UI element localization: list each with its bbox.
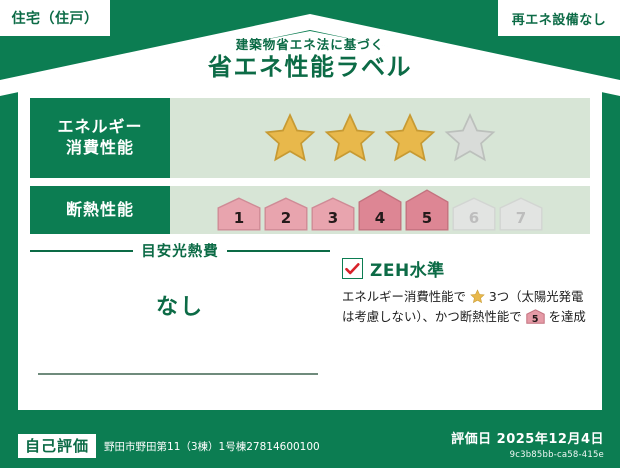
- insulation-level-5: 5: [405, 189, 449, 231]
- row-energy-label-line1: エネルギー: [57, 117, 142, 138]
- star-icon-empty: [444, 112, 496, 164]
- insulation-level-number: 7: [499, 209, 543, 227]
- label-heading: 建築物省エネ法に基づく 省エネ性能ラベル: [0, 37, 620, 82]
- row-insulation-value: 1234567: [170, 186, 590, 234]
- insulation-level-3: 3: [311, 197, 355, 231]
- insulation-level-4: 4: [358, 189, 402, 231]
- footer-left: 自己評価 野田市野田第11（3棟）1号棟27814600100: [18, 434, 320, 458]
- heading-subtitle: 建築物省エネ法に基づく: [0, 37, 620, 52]
- zeh-desc-part2: 3つ（太陽光発電: [489, 289, 584, 304]
- utility-cost-value: なし: [30, 289, 330, 321]
- insulation-level-scale: 1234567: [217, 187, 543, 233]
- insulation-badge-number: 5: [526, 315, 545, 325]
- label-body-panel: エネルギー 消費性能 断熱性能 1234567 目安光熱費: [18, 88, 602, 410]
- tag-renewable-energy: 再エネ設備なし: [498, 0, 620, 36]
- zeh-heading: ZEH水準: [342, 256, 590, 281]
- footer-right: 評価日 2025年12月4日 9c3b85bb-ca58-415e: [451, 428, 604, 460]
- utility-cost-title-row: 目安光熱費: [30, 240, 330, 261]
- utility-cost-underline: [38, 373, 318, 375]
- tag-building-type: 住宅（住戸）: [0, 0, 110, 36]
- insulation-level-number: 4: [358, 209, 402, 227]
- insulation-level-2: 2: [264, 197, 308, 231]
- heading-title: 省エネ性能ラベル: [0, 54, 620, 82]
- insulation-level-number: 1: [217, 209, 261, 227]
- insulation-level-1: 1: [217, 197, 261, 231]
- row-energy-value: [170, 98, 590, 178]
- insulation-level-number: 3: [311, 209, 355, 227]
- row-insulation: 断熱性能 1234567: [30, 186, 590, 234]
- insulation-level-number: 2: [264, 209, 308, 227]
- zeh-title: ZEH水準: [370, 256, 445, 281]
- row-insulation-label: 断熱性能: [30, 186, 170, 234]
- row-insulation-label-line1: 断熱性能: [66, 200, 134, 221]
- star-icon-filled: [384, 112, 436, 164]
- star-icon-filled: [264, 112, 316, 164]
- insulation-level-6: 6: [452, 197, 496, 231]
- star-icon-filled: [324, 112, 376, 164]
- row-energy-consumption: エネルギー 消費性能: [30, 98, 590, 178]
- star-rating: [264, 112, 496, 164]
- insulation-level-number: 5: [405, 209, 449, 227]
- zeh-desc-part3: は考慮しない）、かつ断熱性能で: [342, 309, 522, 324]
- zeh-description: エネルギー消費性能で 3つ（太陽光発電 は考慮しない）、かつ断熱性能で 5: [342, 287, 590, 328]
- insulation-badge-icon: 5: [526, 309, 545, 324]
- title-rule-right: [227, 250, 330, 252]
- row-energy-label: エネルギー 消費性能: [30, 98, 170, 178]
- insulation-level-number: 6: [452, 209, 496, 227]
- zeh-block: ZEH水準 エネルギー消費性能で 3つ（太陽光発電 は考慮しない）、かつ断熱性能…: [342, 256, 590, 328]
- zeh-desc-part1: エネルギー消費性能で: [342, 289, 466, 304]
- insulation-level-7: 7: [499, 197, 543, 231]
- checkmark-icon: [342, 258, 363, 279]
- utility-cost-block: 目安光熱費 なし: [30, 240, 330, 321]
- title-rule-left: [30, 250, 133, 252]
- star-icon: [470, 289, 485, 304]
- lower-section: 目安光熱費 なし ZEH水準 エネルギー消費性能で: [30, 240, 590, 398]
- self-evaluation-badge: 自己評価: [18, 434, 96, 458]
- property-address: 野田市野田第11（3棟）1号棟27814600100: [104, 439, 320, 454]
- utility-cost-title: 目安光熱費: [141, 240, 219, 261]
- zeh-desc-part4: を達成: [549, 309, 586, 324]
- label-uuid: 9c3b85bb-ca58-415e: [451, 450, 604, 460]
- evaluation-date: 評価日 2025年12月4日: [451, 428, 604, 447]
- energy-performance-label: 住宅（住戸） 再エネ設備なし 建築物省エネ法に基づく 省エネ性能ラベル エネルギ…: [0, 0, 620, 468]
- row-energy-label-line2: 消費性能: [66, 138, 134, 159]
